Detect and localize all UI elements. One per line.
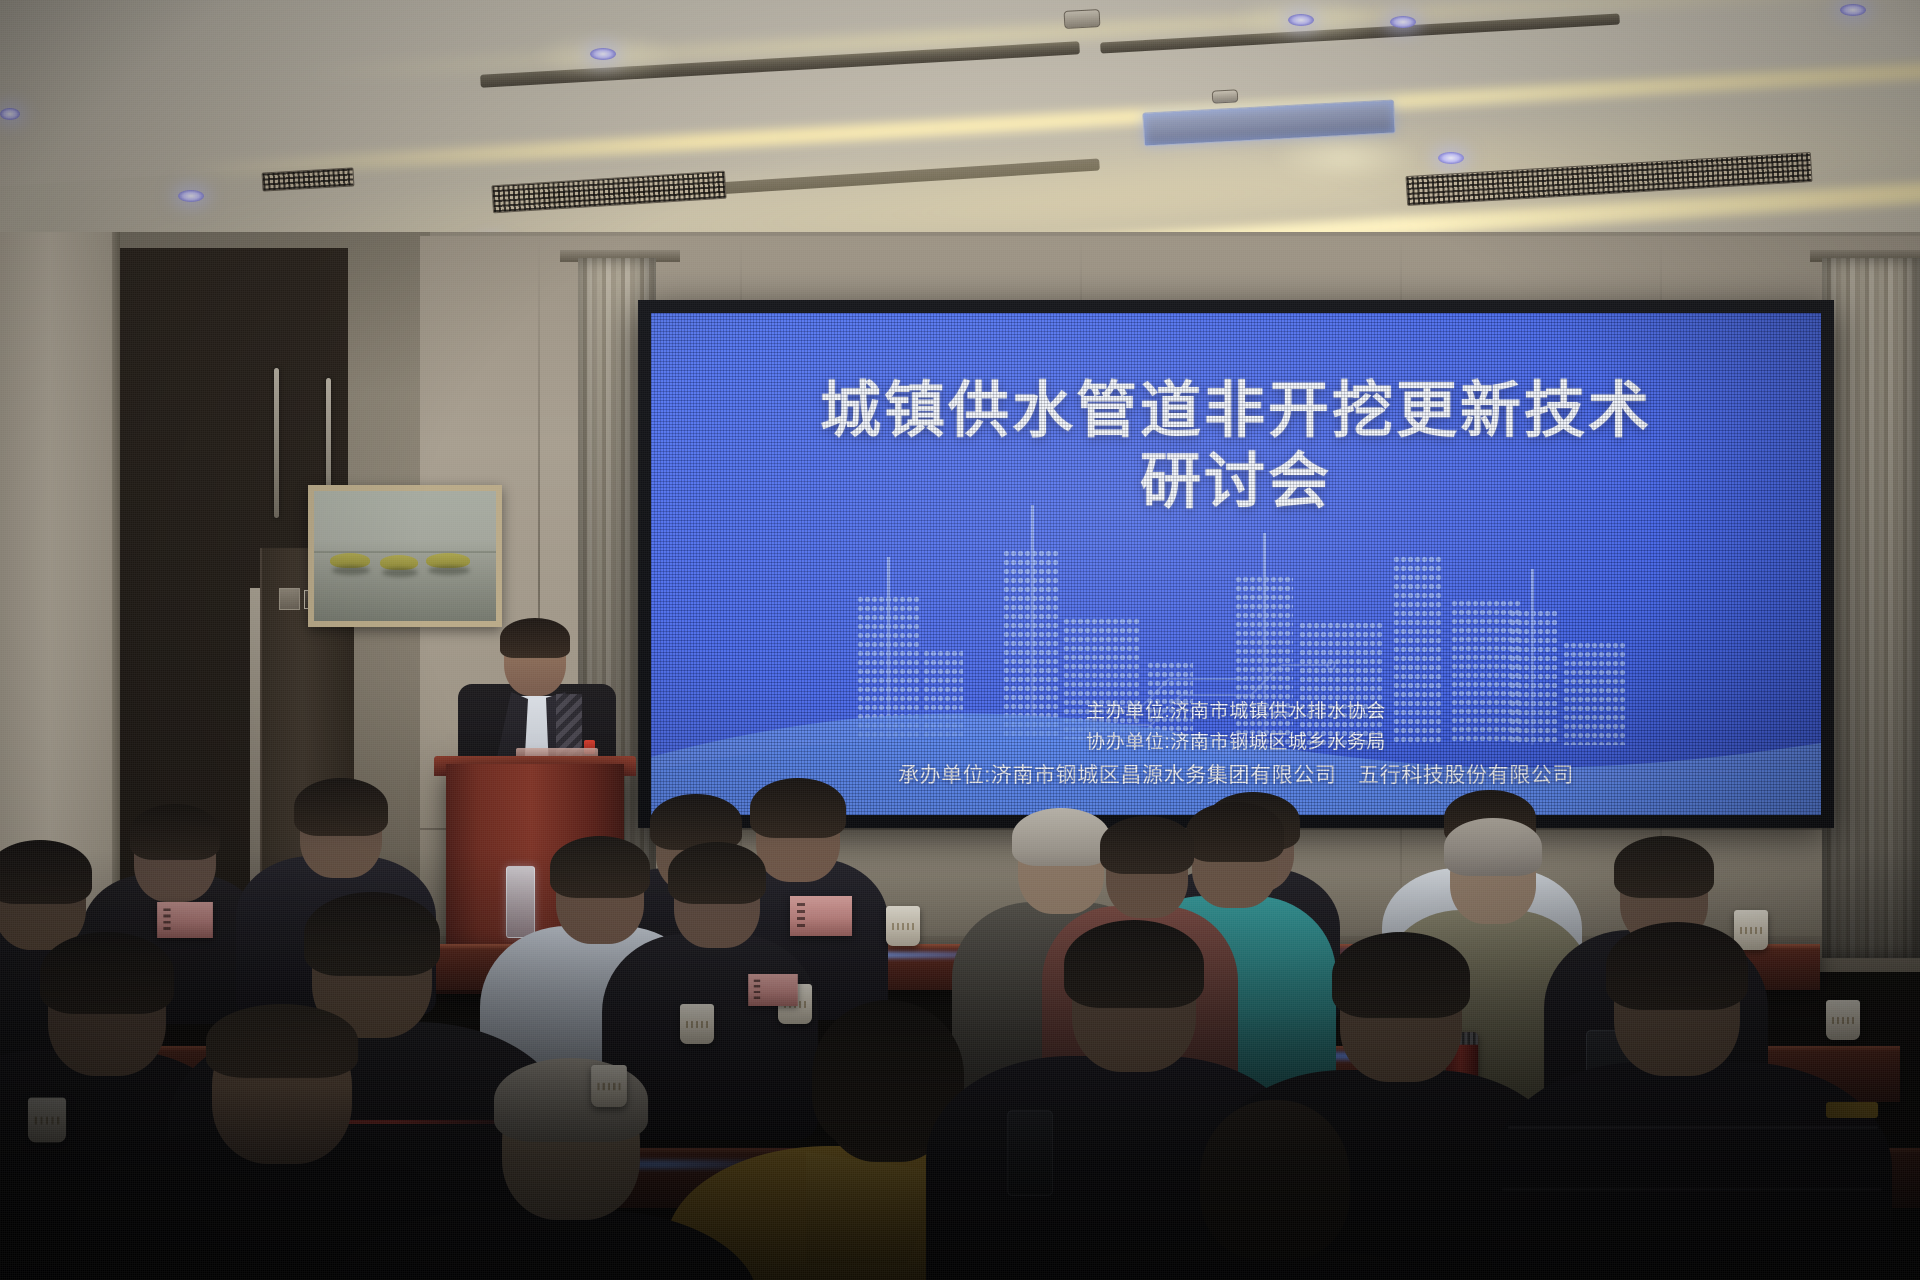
speaker-hair <box>500 618 570 658</box>
puffer-seam-1 <box>1508 1126 1878 1129</box>
wall-column <box>0 232 118 932</box>
spotlight-icon-4 <box>1840 4 1866 16</box>
slide-organizer-coorganizer: 协办单位:济南市钢城区城乡水务局 <box>651 728 1821 759</box>
attendee-hair <box>206 1004 358 1078</box>
led-display-bezel: 城镇供水管道非开挖更新技术 研讨会 主办单位:济南市城镇供水排水协会 协办单位:… <box>638 300 1834 828</box>
framed-painting <box>308 485 502 627</box>
attendee-hair <box>304 892 440 976</box>
attendee-hair <box>550 836 650 898</box>
name-card-text <box>163 908 170 931</box>
phone-2[interactable] <box>1007 1110 1053 1196</box>
spotlight-icon-3 <box>1390 16 1416 28</box>
attendee-hair <box>1614 836 1714 898</box>
spotlight-icon-7 <box>178 190 204 202</box>
attendee-hair <box>40 932 174 1014</box>
slide-title-line-2: 研讨会 <box>651 446 1821 517</box>
attendee-grey-hair-top <box>1012 808 1110 866</box>
attendee-head <box>1200 1100 1350 1260</box>
spotlight-glow-3 <box>1270 132 1420 182</box>
attendee-hair <box>1100 816 1194 874</box>
paper-cup-3 <box>680 1004 714 1044</box>
spotlight-icon-2 <box>1288 14 1314 26</box>
attendee-hair <box>1186 802 1284 862</box>
smoke-detector-icon <box>1064 9 1101 29</box>
attendee-hair <box>1332 932 1470 1018</box>
name-card-2 <box>790 896 852 936</box>
painting-shadow-overlay <box>314 491 496 621</box>
conference-room-photo: 城镇供水管道非开挖更新技术 研讨会 主办单位:济南市城镇供水排水协会 协办单位:… <box>0 0 1920 1280</box>
attendee-hair <box>0 840 92 904</box>
paper-cup-6 <box>28 1098 66 1143</box>
slide-title-line-1: 城镇供水管道非开挖更新技术 <box>651 375 1821 446</box>
attendee-puffer-body <box>1492 1062 1892 1280</box>
water-glass-1 <box>506 866 535 938</box>
attendee-hair <box>1444 818 1542 876</box>
paper-cup-7 <box>591 1065 627 1107</box>
spotlight-icon-1 <box>590 48 616 60</box>
door-handle-icon-1[interactable] <box>274 368 279 518</box>
attendee-hair <box>294 778 388 836</box>
name-card-4 <box>748 974 798 1006</box>
curtain-right-shade <box>1822 258 1920 958</box>
slide-organizers: 主办单位:济南市城镇供水排水协会 协办单位:济南市钢城区城乡水务局 承办单位:济… <box>651 697 1821 793</box>
attendee-hair <box>668 842 766 904</box>
attendee-hair <box>650 794 742 850</box>
name-card-text <box>754 980 760 1000</box>
attendee-hair <box>130 804 220 860</box>
name-card-text <box>797 903 805 928</box>
attendee-hair <box>750 778 846 838</box>
ceiling-sensor-icon <box>1212 89 1239 103</box>
led-display-screen[interactable]: 城镇供水管道非开挖更新技术 研讨会 主办单位:济南市城镇供水排水协会 协办单位:… <box>651 313 1821 815</box>
column-edge <box>112 232 120 932</box>
attendee-hair <box>1064 920 1204 1008</box>
curtain-right <box>1822 258 1920 958</box>
wall-outlet[interactable] <box>279 588 300 610</box>
spotlight-icon-5 <box>0 108 20 120</box>
paper-cup-5 <box>1826 1000 1860 1040</box>
name-card-1 <box>157 902 213 938</box>
paper-cup-1 <box>886 906 920 946</box>
slide-organizer-host: 主办单位:济南市城镇供水排水协会 <box>651 697 1821 728</box>
attendee-hair <box>1606 922 1748 1010</box>
puffer-seam-2 <box>1502 1188 1882 1191</box>
slide-title: 城镇供水管道非开挖更新技术 研讨会 <box>651 375 1821 518</box>
spotlight-icon-6 <box>1438 152 1464 164</box>
puffer-logo <box>1826 1102 1878 1118</box>
